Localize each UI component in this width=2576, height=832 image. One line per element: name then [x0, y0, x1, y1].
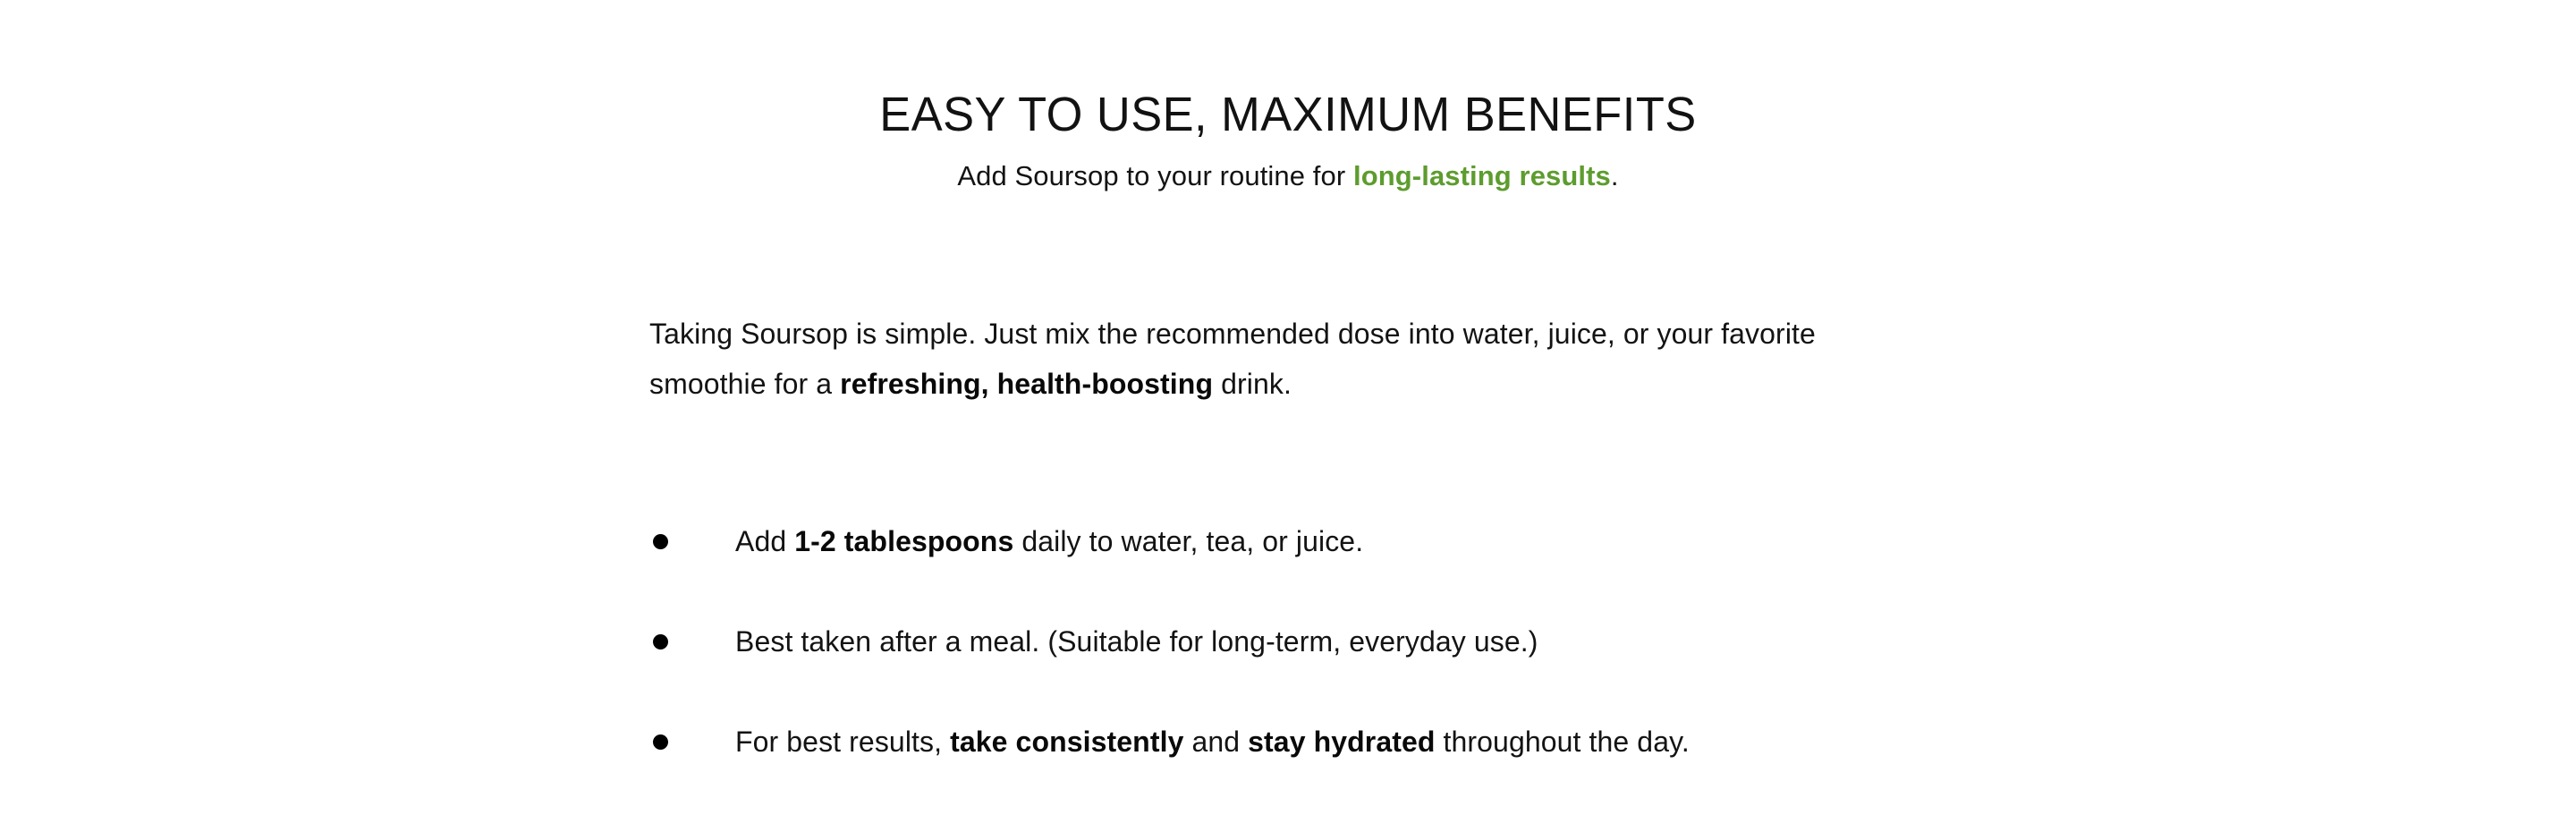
list-item: Best taken after a meal. (Suitable for l…: [653, 617, 1950, 667]
bullet-dot-icon: [653, 634, 668, 649]
bullet-1-bold-1: 1-2 tablespoons: [794, 525, 1013, 557]
intro-bold-refreshing: refreshing: [840, 368, 980, 400]
page-title: EASY TO USE, MAXIMUM BENEFITS: [38, 86, 2538, 143]
subtitle-accent-text: long-lasting results: [1353, 160, 1611, 191]
subtitle-trail-text: .: [1611, 160, 1619, 191]
bullet-2-part-1: Best taken after a meal. (Suitable for l…: [735, 625, 1538, 658]
intro-bold-health-boosting: health-boosting: [997, 368, 1213, 400]
bullet-3-part-3: throughout the day.: [1436, 726, 1690, 758]
bullet-dot-icon: [653, 534, 668, 549]
bullet-3-part-1: For best results,: [735, 726, 950, 758]
list-item-text: For best results, take consistently and …: [735, 717, 1950, 766]
list-item-text: Add 1-2 tablespoons daily to water, tea,…: [735, 517, 1950, 565]
page-root: EASY TO USE, MAXIMUM BENEFITS Add Sourso…: [0, 0, 2576, 832]
bullet-3-bold-1: take consistently: [950, 726, 1183, 758]
intro-part-2: ,: [981, 368, 997, 400]
bullet-3-part-2: and: [1183, 726, 1248, 758]
intro-part-3: drink.: [1213, 368, 1292, 400]
instructions-list: Add 1-2 tablespoons daily to water, tea,…: [653, 517, 1950, 768]
subtitle-lead-text: Add Soursop to your routine for: [957, 160, 1353, 191]
list-item: Add 1-2 tablespoons daily to water, tea,…: [653, 517, 1950, 567]
header-block: EASY TO USE, MAXIMUM BENEFITS Add Sourso…: [0, 86, 2576, 195]
list-item: For best results, take consistently and …: [653, 717, 1950, 768]
intro-paragraph: Taking Soursop is simple. Just mix the r…: [649, 309, 1919, 409]
page-subtitle: Add Soursop to your routine for long-las…: [0, 143, 2576, 195]
bullet-dot-icon: [653, 734, 668, 750]
bullet-1-part-2: daily to water, tea, or juice.: [1013, 525, 1363, 557]
list-item-text: Best taken after a meal. (Suitable for l…: [735, 617, 1950, 666]
bullet-1-part-1: Add: [735, 525, 794, 557]
content-column: Taking Soursop is simple. Just mix the r…: [649, 309, 1955, 409]
bullet-3-bold-2: stay hydrated: [1248, 726, 1435, 758]
